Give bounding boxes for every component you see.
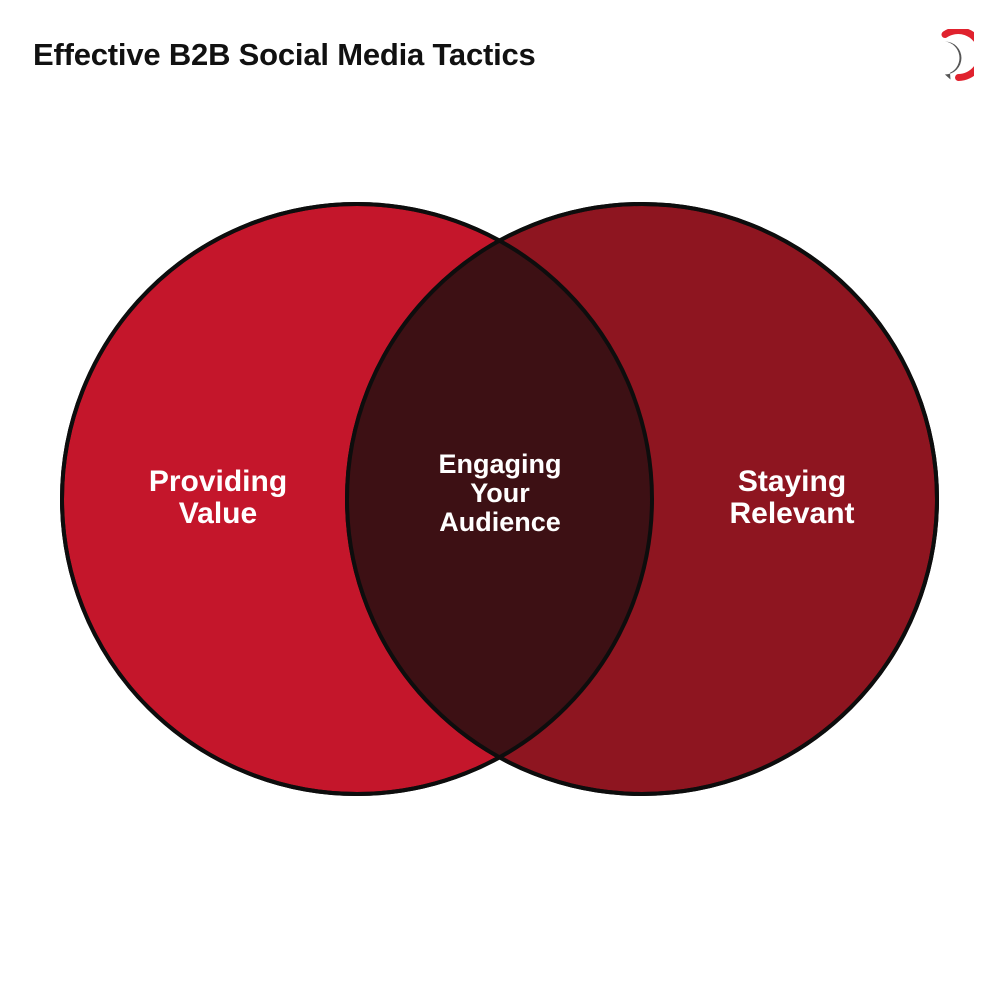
venn-svg [0,0,1000,1000]
venn-diagram [0,0,1000,1000]
infographic-canvas: Effective B2B Social Media Tactics [0,0,1000,1000]
